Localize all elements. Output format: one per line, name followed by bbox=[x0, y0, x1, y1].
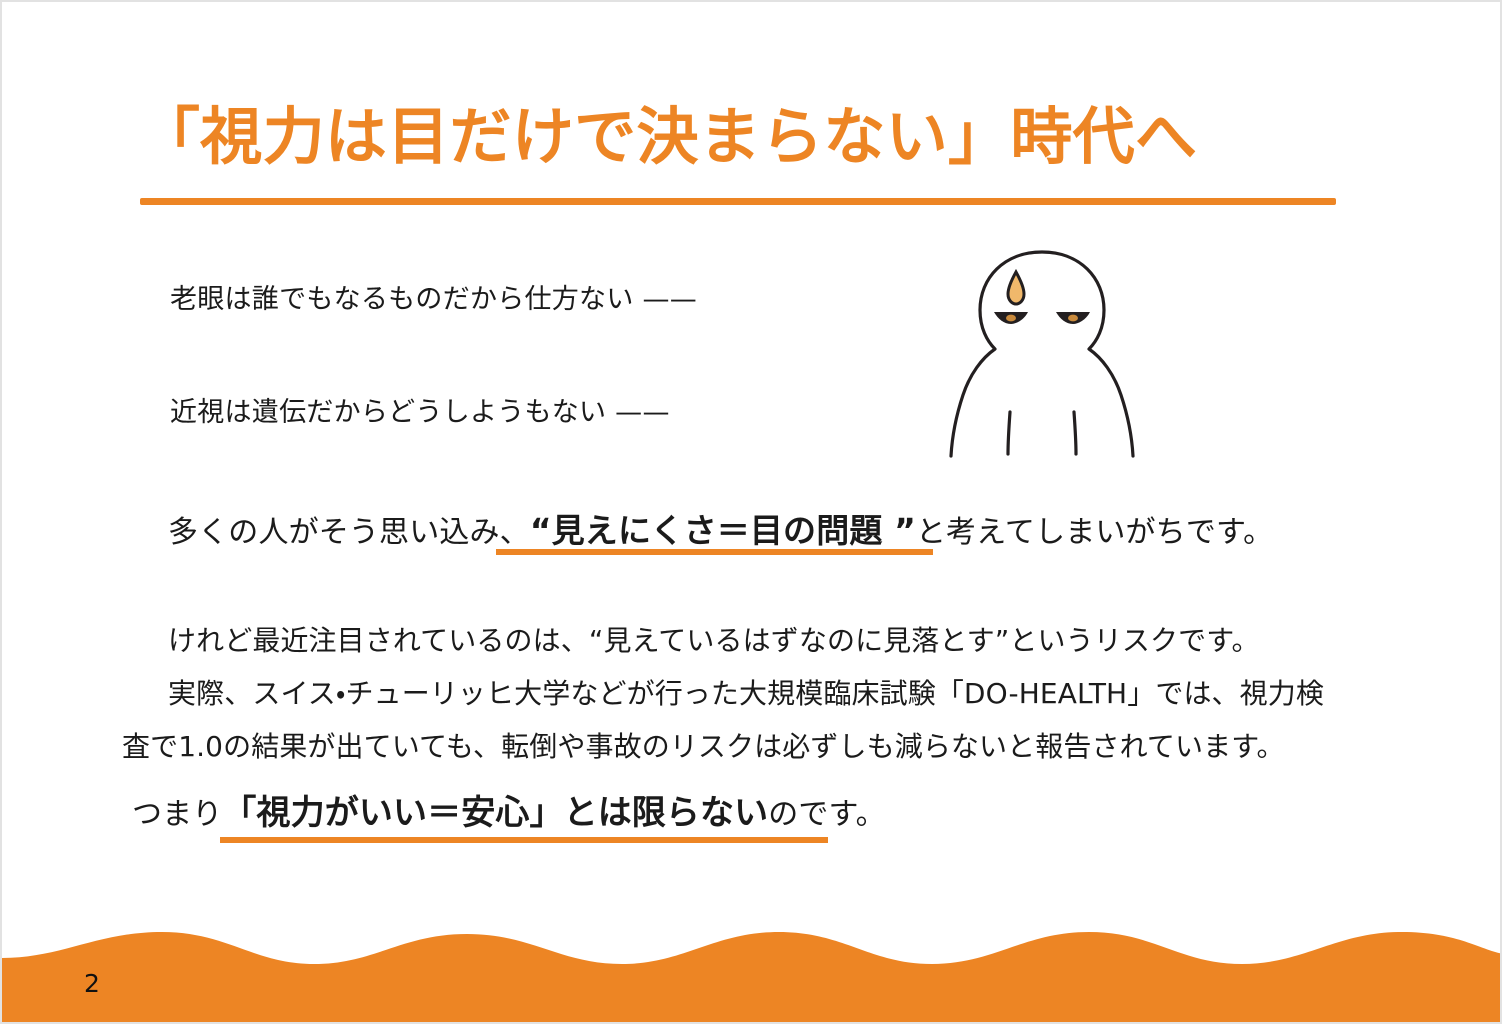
title-underline-rule bbox=[140, 198, 1336, 205]
conclusion-suffix: のです。 bbox=[768, 797, 885, 832]
paragraph-line-1: けれど最近注目されているのは、“見えているはずなのに見落とす”というリスクです。 bbox=[122, 614, 1402, 667]
left-eye bbox=[994, 312, 1028, 324]
claim-line: 多くの人がそう思い込み、“見えにくさ＝目の問題 ”と考えてしまいがちです。 bbox=[168, 504, 1273, 552]
paragraph-line-2: 実際、スイス・チューリッヒ大学などが行った大規模臨床試験「DO-HEALTH」で… bbox=[122, 667, 1402, 720]
claim-highlight-underline bbox=[496, 549, 933, 555]
claim-highlight: “見えにくさ＝目の問題 ” bbox=[530, 511, 916, 550]
right-eye bbox=[1056, 312, 1090, 324]
page-title: 「視力は目だけで決まらない」時代へ bbox=[138, 104, 1348, 171]
worried-blob-character-illustration bbox=[932, 240, 1152, 485]
slide-canvas: 「視力は目だけで決まらない」時代へ 老眼は誰でもなるものだから仕方ない —— 近… bbox=[0, 0, 1502, 1024]
lead-line-1: 老眼は誰でもなるものだから仕方ない —— bbox=[170, 277, 697, 316]
conclusion-highlight-underline bbox=[220, 837, 828, 843]
lead-line-2: 近視は遺伝だからどうしようもない —— bbox=[170, 390, 670, 429]
footer-wave-decoration bbox=[2, 912, 1502, 1022]
claim-suffix: と考えてしまいがちです。 bbox=[916, 515, 1273, 550]
body-paragraph: けれど最近注目されているのは、“見えているはずなのに見落とす”というリスクです。… bbox=[122, 614, 1402, 773]
page-number: 2 bbox=[84, 969, 100, 998]
conclusion-prefix: つまり bbox=[132, 797, 222, 832]
paragraph-line-3: 査で1.0の結果が出ていても、転倒や事故のリスクは必ずしも減らないと報告されてい… bbox=[122, 720, 1402, 773]
claim-prefix: 多くの人がそう思い込み、 bbox=[168, 515, 530, 550]
conclusion-highlight: 「視力がいい＝安心」とは限らない bbox=[222, 793, 768, 833]
sweat-drop-icon bbox=[1008, 272, 1024, 304]
title-block: 「視力は目だけで決まらない」時代へ bbox=[138, 104, 1348, 171]
conclusion-line: つまり「視力がいい＝安心」とは限らないのです。 bbox=[132, 785, 886, 834]
